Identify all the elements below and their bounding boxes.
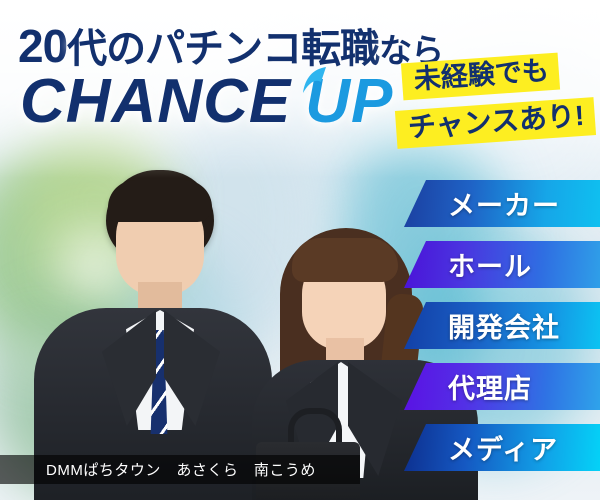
man-figure <box>28 170 278 500</box>
tag-label: メーカー <box>448 184 560 223</box>
tag-label: メディア <box>448 428 558 467</box>
tag-label: 開発会社 <box>448 306 560 345</box>
woman-fringe <box>292 238 398 282</box>
logo-main-text: CHANCE <box>20 67 291 136</box>
tag-agency[interactable]: 代理店 <box>404 363 600 410</box>
caption-text: DMMぱちタウン あさくら 南こうめ <box>46 459 316 480</box>
man-fringe <box>108 180 212 222</box>
logo-accent-text: UP <box>305 67 393 136</box>
logo-chance-up: CHANCEUP <box>20 66 393 137</box>
callout-line-1: 未経験でも <box>401 53 560 101</box>
tag-development-company[interactable]: 開発会社 <box>404 302 600 349</box>
tag-label: 代理店 <box>448 367 532 406</box>
callout-badge: 未経験でも チャンスあり! <box>396 58 592 158</box>
tag-label: ホール <box>448 245 532 284</box>
recruitment-banner[interactable]: 20代のパチンコ転職なら CHANCEUP 未経験でも チャンスあり! メーカー… <box>0 0 600 500</box>
headline-number: 20 <box>18 20 67 72</box>
headline-middle: 代のパチンコ転職 <box>67 27 379 71</box>
category-tag-list: メーカー ホール 開発会社 代理店 メディア <box>404 180 600 490</box>
tag-media[interactable]: メディア <box>404 424 600 471</box>
callout-line-2: チャンスあり! <box>395 97 596 149</box>
caption-bar: DMMぱちタウン あさくら 南こうめ <box>0 455 360 484</box>
tag-hall[interactable]: ホール <box>404 241 600 288</box>
tag-maker[interactable]: メーカー <box>404 180 600 227</box>
